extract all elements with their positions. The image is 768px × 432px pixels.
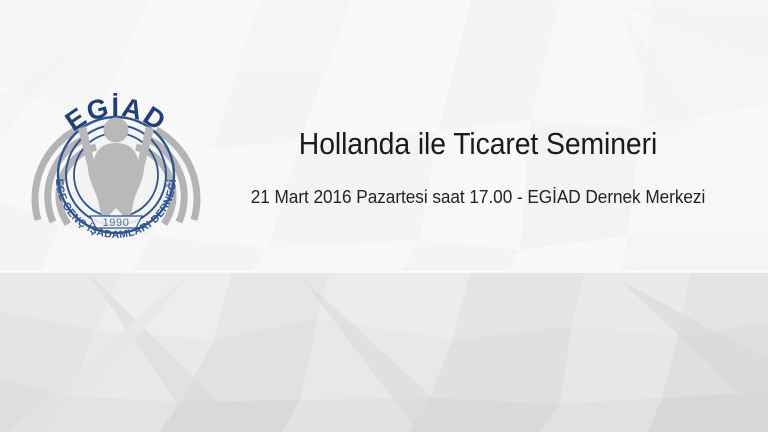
slide-title: Hollanda ile Ticaret Semineri — [244, 124, 712, 164]
band-divider — [0, 271, 768, 273]
slide-text-block: Hollanda ile Ticaret Semineri 21 Mart 20… — [222, 124, 734, 209]
slide-canvas: 1990 EGİAD EGE GENÇ İŞADAMLARI DERNEĞİ H… — [0, 0, 768, 432]
egiad-logo: 1990 EGİAD EGE GENÇ İŞADAMLARI DERNEĞİ — [30, 82, 202, 250]
logo-year-text: 1990 — [103, 217, 130, 229]
slide-subtitle: 21 Mart 2016 Pazartesi saat 17.00 - EGİA… — [240, 185, 716, 209]
egiad-logo-graphic: 1990 EGİAD EGE GENÇ İŞADAMLARI DERNEĞİ — [30, 82, 202, 250]
